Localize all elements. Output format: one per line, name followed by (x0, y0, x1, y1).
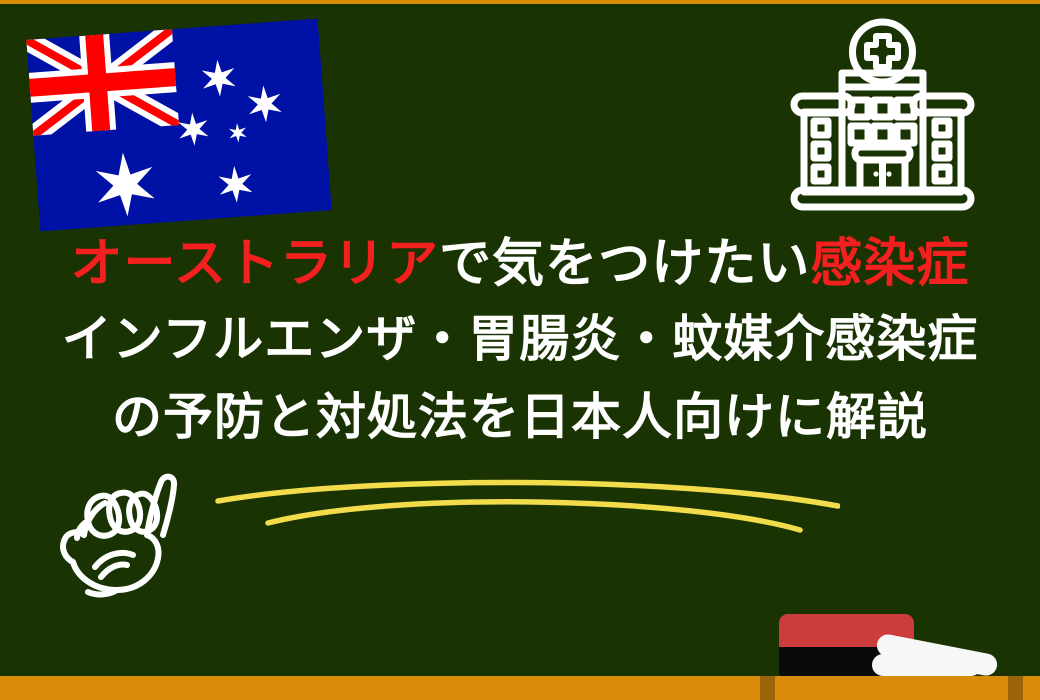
commonwealth-star-icon (90, 149, 161, 220)
headline-accent-country: オーストラリア (70, 234, 439, 294)
flag-field (26, 19, 331, 232)
southern-cross-star-beta (198, 58, 239, 99)
board-top-frame (0, 0, 1040, 4)
ledge-divider (760, 676, 775, 700)
union-jack (26, 29, 179, 135)
southern-cross-star-epsilon (227, 122, 248, 143)
headline-accent-topic: 感染症 (810, 234, 969, 294)
headline-line-1: オーストラリアで気をつけたい感染症 (0, 228, 1040, 300)
headline-line1-middle: で気をつけたい (439, 234, 810, 294)
chalk-stick (872, 654, 982, 676)
southern-cross-star-delta (175, 111, 211, 147)
chalkboard-thumbnail: オーストラリアで気をつけたい感染症 インフルエンザ・胃腸炎・蚊媒介感染症 の予防… (0, 0, 1040, 700)
southern-cross-star-gamma (244, 83, 285, 124)
ledge-divider (1008, 676, 1023, 700)
headline-line-2: インフルエンザ・胃腸炎・蚊媒介感染症 (0, 300, 1040, 378)
southern-cross-star-alpha (215, 164, 256, 205)
hospital-building-icon (775, 16, 990, 221)
chalk-ledge (0, 676, 1040, 700)
pointing-up-hand-icon (55, 472, 205, 607)
page-title: オーストラリアで気をつけたい感染症 インフルエンザ・胃腸炎・蚊媒介感染症 の予防… (0, 228, 1040, 456)
headline-line-3: の予防と対処法を日本人向けに解説 (0, 378, 1040, 456)
yellow-double-underline (200, 468, 840, 548)
australian-flag (26, 19, 331, 232)
